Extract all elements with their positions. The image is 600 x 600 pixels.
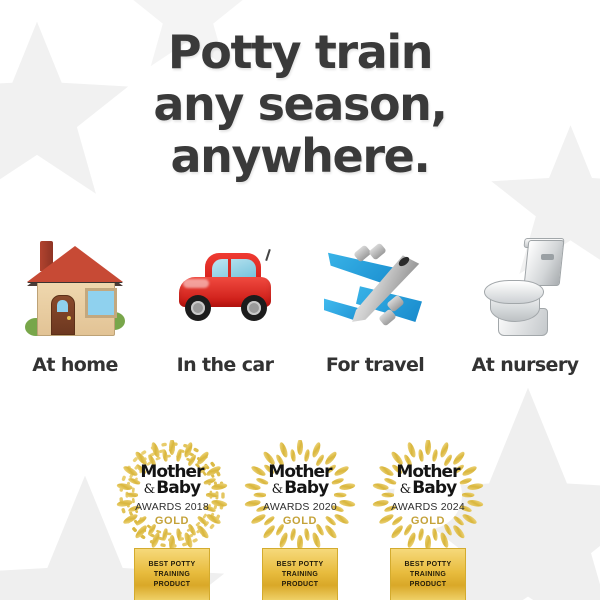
ampersand: & <box>400 484 412 496</box>
ribbon-line-3: PRODUCT <box>405 580 452 590</box>
ribbon-line-1: BEST POTTY <box>149 560 196 570</box>
award-ribbon: BEST POTTY TRAINING PRODUCT <box>134 548 210 600</box>
ribbon-line-3: PRODUCT <box>277 580 324 590</box>
airplane-icon <box>305 232 445 344</box>
feature-label: For travel <box>305 354 445 376</box>
awards-row: Mother & Baby AWARDS 2018 GOLD BEST POTT… <box>0 440 600 600</box>
awards-year-label: AWARDS 2024 <box>391 501 465 513</box>
award-ribbon: BEST POTTY TRAINING PRODUCT <box>262 548 338 600</box>
ribbon-line-2: TRAINING <box>405 570 452 580</box>
ribbon-line-2: TRAINING <box>149 570 196 580</box>
award-tier-label: GOLD <box>411 515 445 527</box>
feature-label: At home <box>5 354 145 376</box>
house-icon <box>5 232 145 344</box>
feature-item-at-nursery: At nursery <box>455 232 595 376</box>
award-badge-2018: Mother & Baby AWARDS 2018 GOLD BEST POTT… <box>113 440 231 600</box>
laurel-wreath-icon: Mother & Baby AWARDS 2018 GOLD <box>113 440 231 552</box>
ampersand: & <box>144 484 156 496</box>
feature-item-for-travel: For travel <box>305 232 445 376</box>
headline-line-3: anywhere. <box>0 130 600 182</box>
ribbon-line-3: PRODUCT <box>149 580 196 590</box>
brand-name-line-2: Baby <box>284 481 328 497</box>
headline-line-2: any season, <box>0 78 600 130</box>
awards-year-label: AWARDS 2020 <box>263 501 337 513</box>
ribbon-line-1: BEST POTTY <box>405 560 452 570</box>
award-tier-label: GOLD <box>283 515 317 527</box>
feature-item-in-the-car: In the car <box>155 232 295 376</box>
toilet-icon <box>455 232 595 344</box>
award-tier-label: GOLD <box>155 515 189 527</box>
headline-line-1: Potty train <box>0 26 600 78</box>
car-icon <box>155 232 295 344</box>
award-ribbon: BEST POTTY TRAINING PRODUCT <box>390 548 466 600</box>
brand-name-line-2: Baby <box>156 481 200 497</box>
awards-year-label: AWARDS 2018 <box>135 501 209 513</box>
feature-item-at-home: At home <box>5 232 145 376</box>
award-badge-2024: Mother & Baby AWARDS 2024 GOLD BEST POTT… <box>369 440 487 600</box>
laurel-wreath-icon: Mother & Baby AWARDS 2020 GOLD <box>241 440 359 552</box>
brand-name-line-2: Baby <box>412 481 456 497</box>
headline: Potty train any season, anywhere. <box>0 26 600 182</box>
feature-row: At home In the car <box>0 232 600 376</box>
ribbon-line-1: BEST POTTY <box>277 560 324 570</box>
laurel-wreath-icon: Mother & Baby AWARDS 2024 GOLD <box>369 440 487 552</box>
feature-label: In the car <box>155 354 295 376</box>
feature-label: At nursery <box>455 354 595 376</box>
award-badge-2020: Mother & Baby AWARDS 2020 GOLD BEST POTT… <box>241 440 359 600</box>
ampersand: & <box>272 484 284 496</box>
promo-graphic: Potty train any season, anywhere. At hom… <box>0 0 600 600</box>
ribbon-line-2: TRAINING <box>277 570 324 580</box>
